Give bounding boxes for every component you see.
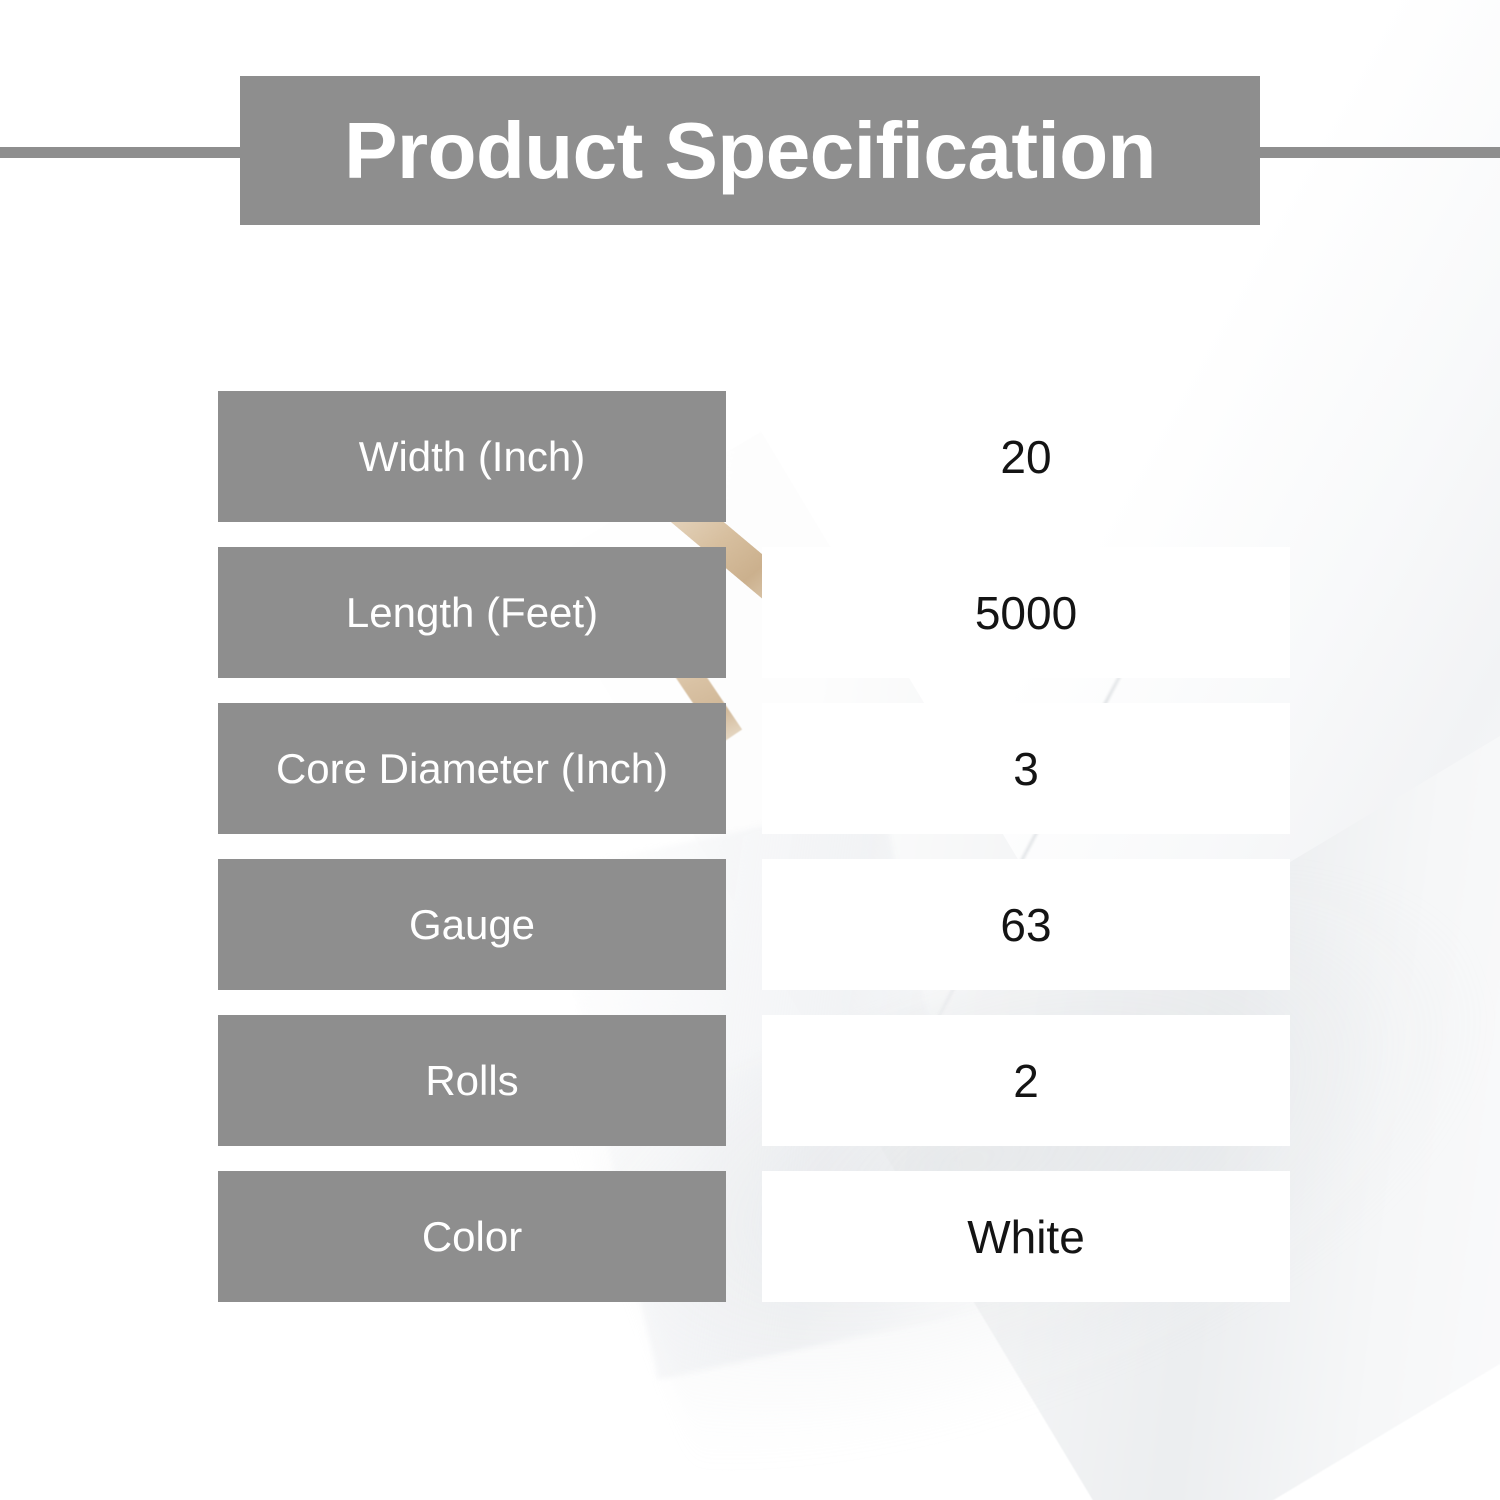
spec-label-text: Core Diameter (Inch) (276, 747, 668, 791)
table-row: Core Diameter (Inch) 3 (218, 703, 1290, 834)
table-row: Color White (218, 1171, 1290, 1302)
spec-label-width: Width (Inch) (218, 391, 726, 522)
page-header: Product Specification (0, 0, 1500, 300)
product-specification-page: Product Specification Width (Inch) 20 Le… (0, 0, 1500, 1500)
spec-label-core-diameter: Core Diameter (Inch) (218, 703, 726, 834)
spec-value-text: 3 (1013, 746, 1039, 792)
spec-value-length: 5000 (762, 547, 1290, 678)
spec-value-text: 20 (1000, 434, 1051, 480)
title-banner: Product Specification (240, 76, 1260, 225)
spec-value-text: 5000 (975, 590, 1077, 636)
spec-label-text: Length (Feet) (346, 590, 598, 635)
spec-label-text: Rolls (425, 1058, 518, 1103)
spec-label-rolls: Rolls (218, 1015, 726, 1146)
spec-label-length: Length (Feet) (218, 547, 726, 678)
table-row: Gauge 63 (218, 859, 1290, 990)
spec-value-text: White (967, 1214, 1085, 1260)
specification-table: Width (Inch) 20 Length (Feet) 5000 Core … (218, 391, 1290, 1302)
spec-label-text: Width (Inch) (359, 434, 585, 479)
spec-value-rolls: 2 (762, 1015, 1290, 1146)
spec-label-color: Color (218, 1171, 726, 1302)
table-row: Length (Feet) 5000 (218, 547, 1290, 678)
spec-label-text: Gauge (409, 902, 535, 947)
spec-value-gauge: 63 (762, 859, 1290, 990)
spec-value-text: 63 (1000, 902, 1051, 948)
spec-label-text: Color (422, 1214, 522, 1259)
spec-value-text: 2 (1013, 1058, 1039, 1104)
spec-value-core-diameter: 3 (762, 703, 1290, 834)
table-row: Width (Inch) 20 (218, 391, 1290, 522)
header-rule-right (1248, 147, 1500, 158)
header-rule-left (0, 147, 252, 158)
spec-value-width: 20 (762, 391, 1290, 522)
page-title: Product Specification (344, 111, 1156, 191)
spec-label-gauge: Gauge (218, 859, 726, 990)
spec-value-color: White (762, 1171, 1290, 1302)
table-row: Rolls 2 (218, 1015, 1290, 1146)
